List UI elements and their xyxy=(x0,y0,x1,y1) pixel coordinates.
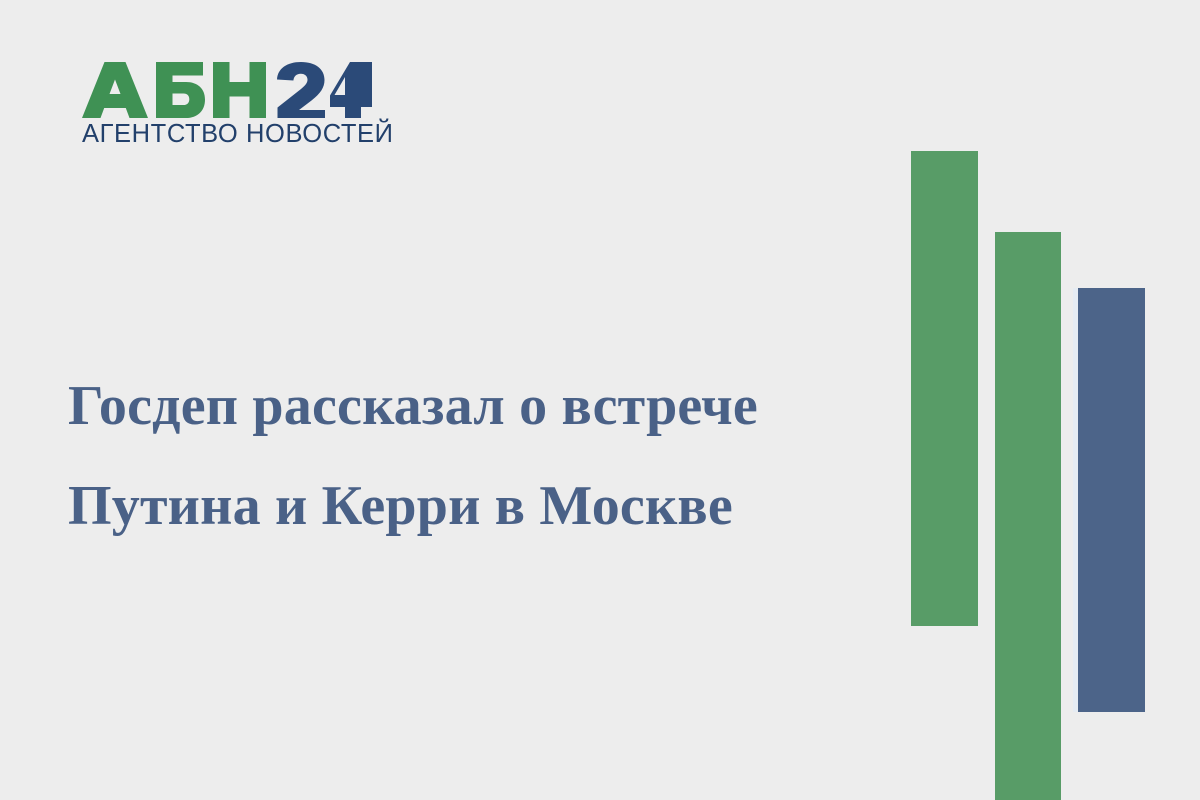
abn24-wordmark-icon xyxy=(82,62,372,118)
headline: Госдеп рассказал о встрече Путина и Керр… xyxy=(68,356,858,556)
logo-digit-4 xyxy=(330,62,372,118)
accent-strip xyxy=(1073,288,1078,712)
headline-line-1: Госдеп рассказал о встрече xyxy=(68,356,858,456)
logo-letter-a xyxy=(82,62,148,118)
headline-line-2: Путина и Керри в Москве xyxy=(68,456,858,556)
bar-2 xyxy=(995,232,1061,800)
news-card: АГЕНТСТВО НОВОСТЕЙ Госдеп рассказал о вс… xyxy=(0,0,1200,800)
logo-letter-be xyxy=(156,62,205,118)
abn24-logo[interactable]: АГЕНТСТВО НОВОСТЕЙ xyxy=(78,62,378,158)
bar-3 xyxy=(1078,288,1145,712)
logo-tagline: АГЕНТСТВО НОВОСТЕЙ xyxy=(82,122,378,148)
bar-1 xyxy=(911,151,978,626)
logo-digit-2 xyxy=(277,62,325,118)
logo-letter-en xyxy=(213,62,266,118)
